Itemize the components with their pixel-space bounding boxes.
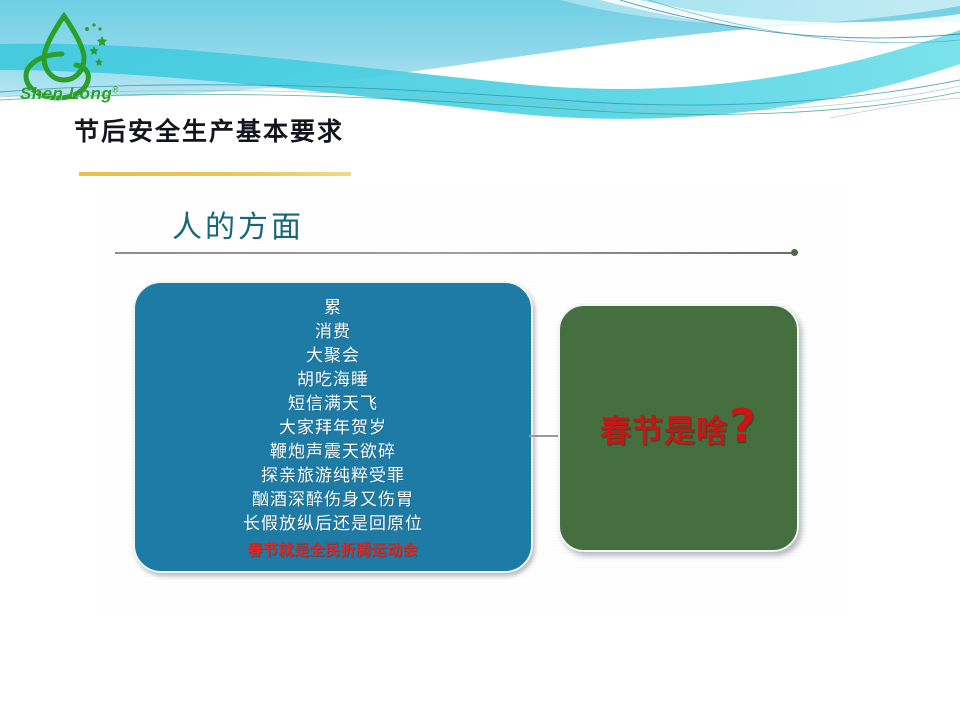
embedded-slide-panel: 人的方面 累 消费 大聚会 胡吃海睡 短信满天飞 大家拜年贺岁 鞭炮声震天欲碎 … <box>96 186 846 610</box>
list-item: 探亲旅游纯粹受罪 <box>261 464 405 488</box>
inner-section-rule <box>115 252 795 254</box>
inner-section-rule-end-dot-icon <box>791 249 798 256</box>
connector-line <box>529 435 561 437</box>
green-box-label: 春节是啥 <box>600 406 728 451</box>
list-item: 大家拜年贺岁 <box>279 416 387 440</box>
list-item: 大聚会 <box>306 344 360 368</box>
list-item-highlight: 春节就是全民折腾运动会 <box>248 538 419 562</box>
shen-long-logo: Shen Long® <box>14 10 122 110</box>
list-item: 鞭炮声震天欲碎 <box>270 440 396 464</box>
list-item: 短信满天飞 <box>288 392 378 416</box>
slide-canvas: Shen Long® 节后安全生产基本要求 人的方面 累 消费 大聚会 胡吃海睡… <box>0 0 960 720</box>
list-item: 消费 <box>315 320 351 344</box>
green-question-box: 春节是啥? <box>558 304 799 552</box>
registered-mark-icon: ® <box>112 85 118 94</box>
green-box-text: 春节是啥? <box>600 406 757 451</box>
list-item: 酗酒深醉伤身又伤胃 <box>252 488 414 512</box>
list-item: 胡吃海睡 <box>297 368 369 392</box>
title-underline <box>79 172 351 176</box>
question-mark-icon: ? <box>729 408 757 445</box>
list-item: 长假放纵后还是回原位 <box>243 512 423 536</box>
blue-content-box: 累 消费 大聚会 胡吃海睡 短信满天飞 大家拜年贺岁 鞭炮声震天欲碎 探亲旅游纯… <box>133 281 533 573</box>
logo-wordmark: Shen Long® <box>20 84 120 104</box>
inner-section-heading: 人的方面 <box>172 202 304 246</box>
list-item: 累 <box>324 296 342 320</box>
page-title: 节后安全生产基本要求 <box>74 112 344 148</box>
